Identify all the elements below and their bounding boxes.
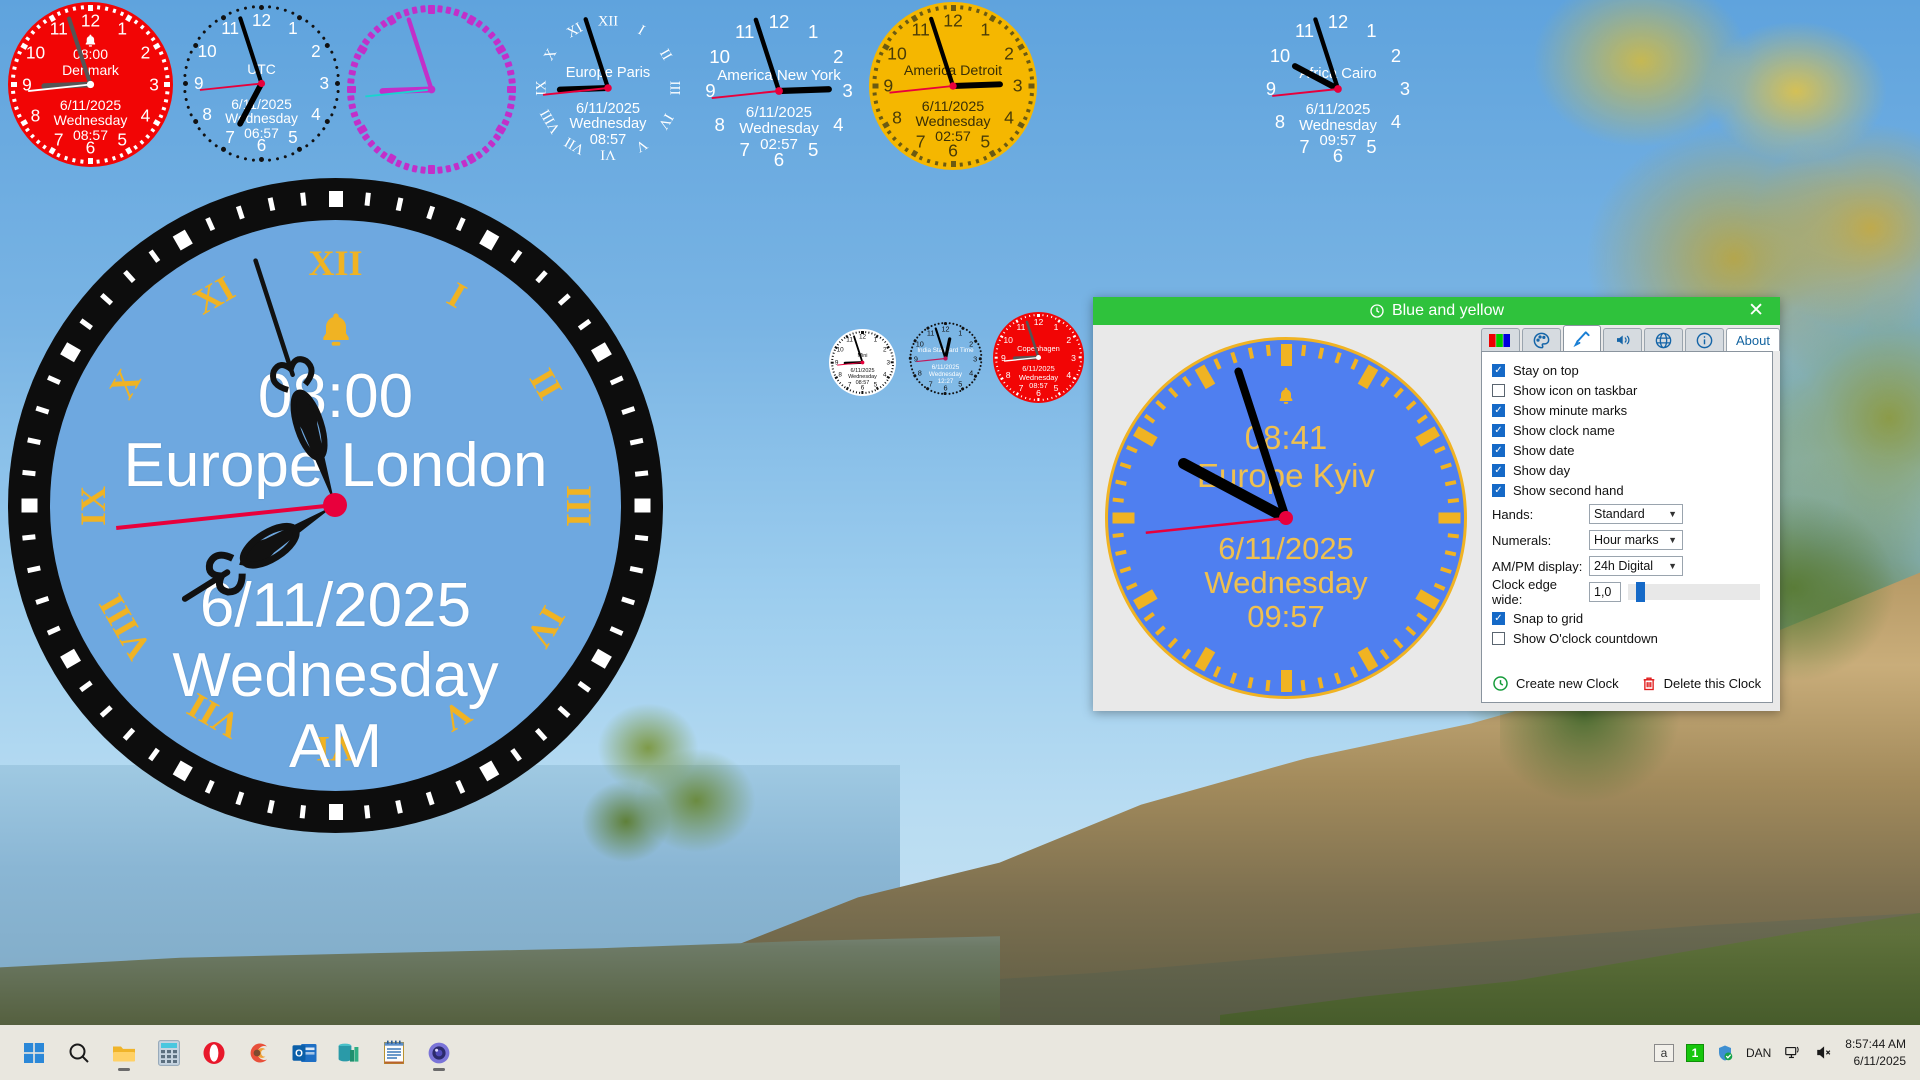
- clock-numeral: 5: [980, 132, 990, 153]
- camera-app-button[interactable]: [419, 1033, 459, 1073]
- clock-tick: [12, 67, 16, 70]
- show-clock-name-label: Show clock name: [1513, 423, 1615, 438]
- clock-tick: [927, 9, 931, 14]
- clock-tick: [335, 81, 340, 86]
- delete-this-clock-label: Delete this Clock: [1664, 676, 1762, 691]
- stay-on-top-row[interactable]: Stay on top: [1492, 362, 1772, 379]
- ampm-select-value: 24h Digital: [1594, 559, 1653, 573]
- show-date-label: Show date: [1513, 443, 1574, 458]
- clock-tick: [943, 162, 946, 166]
- mini-clock-tick: [978, 368, 980, 370]
- clock-tick: [347, 78, 354, 84]
- file-explorer-button[interactable]: [104, 1033, 144, 1073]
- snap-to-grid-row[interactable]: Snap to grid: [1492, 610, 1772, 627]
- mini-clock-tick: [997, 343, 999, 345]
- clock-numeral: 10: [1270, 45, 1290, 67]
- mini-clock-tick: [909, 361, 911, 363]
- windows-icon: [22, 1041, 46, 1065]
- clock-numeral: 7: [1299, 136, 1309, 158]
- clock-numeral: 3: [1400, 78, 1410, 100]
- tools-tab-pane: Stay on topShow icon on taskbarShow minu…: [1481, 351, 1773, 703]
- mini-clock-numeral: 1: [1054, 322, 1059, 332]
- clock-tick: [872, 93, 876, 96]
- clock-numeral: 3: [149, 74, 159, 95]
- ime-indicator[interactable]: a: [1654, 1044, 1674, 1062]
- chevron-down-icon: ▼: [1668, 561, 1677, 571]
- mini-clock-tick: [1037, 398, 1039, 401]
- mini-clock-tick: [980, 361, 982, 363]
- clock-tick: [164, 82, 170, 87]
- main-clock-europe-london[interactable]: XIIIIIIIIIVVVIVIIVIIIIXXXI 08:00 Europe …: [8, 178, 663, 833]
- create-new-clock-button[interactable]: Create new Clock: [1492, 675, 1619, 692]
- notepad-icon: [383, 1040, 405, 1065]
- clock-numeral: 6: [948, 140, 958, 161]
- mini-clock-copenhagen[interactable]: 121234567891011Copenhagen6/11/2025Wednes…: [993, 312, 1084, 403]
- mini-clock-tick: [849, 333, 851, 336]
- clock-numeral: 2: [833, 46, 843, 68]
- kyiv-clock-tick: [1438, 513, 1460, 524]
- clock-tick: [437, 5, 443, 12]
- mini-clock-tick: [937, 323, 939, 325]
- mini-clock-tick: [1042, 399, 1044, 401]
- mini-clock-numeral: 8: [1006, 370, 1011, 380]
- clock-numeral: 1: [1366, 20, 1376, 42]
- clock-numeral: 6: [257, 136, 267, 156]
- kyiv-clock-face: [1105, 337, 1467, 699]
- mini-clock-tick: [1046, 398, 1048, 400]
- main-clock-bell-icon: [50, 309, 621, 356]
- bezel-tick: [329, 804, 343, 820]
- settings-panel: About Stay on topShow icon on taskbarSho…: [1474, 325, 1780, 711]
- clock-tick: [968, 161, 971, 165]
- mini-clock-numeral: 9: [1001, 353, 1006, 363]
- clock-numeral: 4: [1004, 108, 1014, 129]
- ccleaner-button[interactable]: [239, 1033, 279, 1073]
- start-button[interactable]: [14, 1033, 54, 1073]
- clock-numeral: 7: [740, 139, 750, 161]
- mini-clock-tick: [1029, 398, 1031, 400]
- clock-edge-label: Clock edge wide:: [1492, 577, 1589, 607]
- globe-icon: [1654, 331, 1673, 350]
- clock-tick: [347, 95, 354, 101]
- clock-tick: [183, 81, 188, 86]
- hammer-icon: [1572, 329, 1592, 348]
- clock-numeral: 4: [1391, 111, 1401, 133]
- clock-numeral: 11: [1295, 20, 1314, 42]
- system-tray[interactable]: a 1 DAN: [1654, 1036, 1906, 1068]
- network-icon[interactable]: [1783, 1044, 1802, 1061]
- search-button[interactable]: [59, 1033, 99, 1073]
- mini-clock-tick: [1033, 399, 1035, 401]
- desktop-clock-denmark[interactable]: 12123456789101108:00Denmark6/11/2025Wedn…: [8, 2, 173, 167]
- mini-clock-numeral: 4: [1066, 370, 1071, 380]
- desktop-clock-unnamed-2[interactable]: [344, 2, 519, 177]
- clock-tick: [960, 5, 963, 9]
- tray-clock[interactable]: 8:57:44 AM 6/11/2025: [1845, 1036, 1906, 1068]
- show-second-hand-checkbox[interactable]: [1492, 484, 1505, 497]
- show-date-checkbox[interactable]: [1492, 444, 1505, 457]
- settings-titlebar[interactable]: Blue and yellow ✕: [1093, 297, 1780, 325]
- mini-clock-numeral: 10: [1003, 335, 1013, 345]
- clock-numeral: 3: [842, 80, 852, 102]
- taskbar[interactable]: O a 1 DAN: [0, 1025, 1920, 1080]
- clock-tick: [11, 91, 15, 94]
- mini-clock-tick: [892, 359, 894, 361]
- clock-tick: [259, 5, 264, 10]
- ampm-row: AM/PM display: 24h Digital ▼: [1492, 555, 1772, 577]
- mini-clock-india-standard-time[interactable]: 121234567891011India Standard Time6/11/2…: [907, 320, 984, 397]
- desktop: 12123456789101108:00Denmark6/11/2025Wedn…: [0, 0, 1920, 1080]
- tray-date: 6/11/2025: [1845, 1053, 1906, 1069]
- database-icon: [337, 1041, 361, 1065]
- volume-muted-icon[interactable]: [1814, 1044, 1833, 1061]
- clock-edge-row: Clock edge wide: 1,0: [1492, 581, 1772, 603]
- taskbar-icons[interactable]: O: [14, 1033, 459, 1073]
- clock-tick: [11, 75, 15, 78]
- clock-tick: [976, 159, 980, 164]
- kyiv-clock-preview-area: 08:41 Europe Kyiv 6/11/2025 Wednesday 09…: [1093, 325, 1473, 711]
- stay-on-top-checkbox[interactable]: [1492, 364, 1505, 377]
- mini-clock-numeral: 3: [973, 354, 977, 363]
- mini-clock-mini[interactable]: 121234567891011Mini6/11/2025Wednesday08:…: [829, 329, 896, 396]
- clock-numeral: 3: [1013, 76, 1023, 97]
- clock-tick: [165, 91, 169, 94]
- main-clock-day: Wednesday: [50, 640, 621, 711]
- notification-badge[interactable]: 1: [1686, 1044, 1704, 1062]
- hands-row: Hands: Standard ▼: [1492, 503, 1772, 525]
- show-day-label: Show day: [1513, 463, 1570, 478]
- clock-tick: [960, 162, 963, 166]
- delete-this-clock-button[interactable]: Delete this Clock: [1641, 675, 1762, 692]
- mini-clock-tick: [911, 346, 913, 348]
- show-minute-marks-checkbox[interactable]: [1492, 404, 1505, 417]
- clock-tick: [935, 7, 938, 11]
- mini-clock-tick: [1020, 317, 1022, 320]
- mini-clock-tick: [909, 357, 912, 360]
- mini-clock-numeral: 11: [846, 337, 853, 344]
- show-clock-name-checkbox[interactable]: [1492, 424, 1505, 437]
- clock-tick: [259, 157, 264, 162]
- mini-clock-numeral: 12: [1034, 317, 1044, 327]
- clock-numeral: 12: [1328, 11, 1348, 33]
- clock-numeral: 7: [916, 132, 926, 153]
- rgb-colors-icon: [1489, 334, 1511, 347]
- mini-clock-tick: [955, 391, 957, 393]
- clock-numeral: 3: [319, 74, 329, 94]
- mini-clock-tick: [930, 390, 932, 392]
- clock-numeral: III: [666, 81, 683, 96]
- clock-numeral: 5: [117, 129, 127, 150]
- main-clock-name: Europe London: [50, 430, 621, 501]
- mini-clock-tick: [955, 324, 957, 326]
- clock-numeral: 6: [1333, 145, 1343, 167]
- oclock-countdown-row[interactable]: Show O'clock countdown: [1492, 630, 1772, 647]
- clock-face: [344, 2, 519, 177]
- settings-tabstrip[interactable]: About: [1474, 325, 1780, 351]
- clock-numeral: 11: [912, 19, 930, 40]
- clock-tick: [507, 86, 516, 93]
- clock-tick: [88, 158, 93, 164]
- mini-clock-tick: [832, 352, 834, 354]
- clock-numeral: 9: [883, 76, 893, 97]
- slider-knob[interactable]: [1636, 582, 1645, 602]
- mini-clock-numeral: 5: [874, 381, 878, 388]
- oclock-countdown-checkbox[interactable]: [1492, 632, 1505, 645]
- clock-tick: [951, 161, 956, 167]
- clock-tick: [428, 5, 435, 14]
- shield-icon[interactable]: [1716, 1044, 1734, 1062]
- mini-clock-tick: [977, 372, 979, 374]
- tray-time: 8:57:44 AM: [1845, 1036, 1906, 1052]
- mini-clock-numeral: 6: [1036, 388, 1041, 398]
- clock-numeral: XII: [598, 13, 618, 30]
- mini-clock-tick: [995, 361, 997, 363]
- show-icon-on-taskbar-checkbox[interactable]: [1492, 384, 1505, 397]
- mini-clock-tick: [948, 393, 950, 395]
- mini-clock-tick: [868, 391, 870, 393]
- show-day-row[interactable]: Show day: [1492, 462, 1772, 479]
- clock-numeral: 9: [705, 80, 715, 102]
- mini-clock-numeral: 5: [958, 380, 962, 389]
- clock-edge-input[interactable]: 1,0: [1589, 582, 1621, 602]
- numerals-select[interactable]: Hour marks ▼: [1589, 530, 1683, 550]
- clock-numeral: 7: [225, 128, 235, 148]
- preview-clock-europe-kyiv[interactable]: 08:41 Europe Kyiv 6/11/2025 Wednesday 09…: [1105, 337, 1467, 699]
- mini-clock-tick: [891, 361, 894, 363]
- desktop-clock-utc[interactable]: 121234567891011UTC6/11/2025Wednesday06:5…: [180, 2, 343, 165]
- clock-numeral: 2: [311, 42, 321, 62]
- snap-to-grid-label: Snap to grid: [1513, 611, 1583, 626]
- mini-clock-tick: [865, 392, 867, 394]
- info-tab[interactable]: [1685, 328, 1724, 351]
- clock-tick: [437, 166, 443, 173]
- mini-clock-numeral: 3: [1071, 353, 1076, 363]
- mini-clock-tick: [979, 350, 981, 352]
- show-minute-marks-label: Show minute marks: [1513, 403, 1627, 418]
- mini-clock-tick: [909, 354, 911, 356]
- clock-numeral: VI: [600, 146, 615, 163]
- camera-lens-icon: [427, 1041, 451, 1065]
- speaker-icon: [1613, 331, 1633, 349]
- clock-numeral: 2: [141, 42, 151, 63]
- outlook-button[interactable]: O: [284, 1033, 324, 1073]
- checkbox-list: Stay on topShow icon on taskbarShow minu…: [1482, 362, 1772, 499]
- mini-clock-tick: [871, 390, 873, 392]
- desktop-clock-africa-cairo[interactable]: 121234567891011Africa Cairo6/11/2025Wedn…: [1251, 2, 1425, 176]
- mini-clock-tick: [1046, 315, 1048, 317]
- bezel-tick: [634, 499, 650, 513]
- clock-tick: [1029, 76, 1033, 79]
- clock-numeral: 11: [221, 19, 239, 39]
- info-circle-icon: [1695, 331, 1714, 350]
- snap-to-grid-checkbox[interactable]: [1492, 612, 1505, 625]
- mini-clock-numeral: 7: [929, 380, 933, 389]
- mini-clock-numeral: 4: [969, 369, 973, 378]
- clock-numeral: 8: [714, 114, 724, 136]
- clock-numeral: 9: [194, 74, 204, 94]
- main-clock-alarm-time: 08:00: [50, 361, 621, 432]
- mini-clock-numeral: 5: [1054, 383, 1059, 393]
- opera-button[interactable]: [194, 1033, 234, 1073]
- mini-clock-numeral: 2: [1066, 335, 1071, 345]
- clock-numeral: 8: [202, 105, 212, 125]
- web-tab[interactable]: [1644, 328, 1683, 351]
- kyiv-clock-tick: [1281, 670, 1292, 692]
- chevron-down-icon: ▼: [1668, 535, 1677, 545]
- desktop-clock-europe-paris[interactable]: XIIIIIIIIIVVVIVIIVIIIIXXXIEurope Paris6/…: [522, 2, 694, 174]
- clock-tick: [428, 165, 435, 174]
- chevron-down-icon: ▼: [1668, 509, 1677, 519]
- mini-clock-tick: [859, 392, 861, 394]
- clock-numeral: 9: [1266, 78, 1276, 100]
- mini-clock-tick: [979, 357, 982, 360]
- mini-clock-tick: [952, 392, 954, 394]
- mini-clock-tick: [1080, 352, 1082, 354]
- clock-tick: [935, 161, 938, 165]
- about-tab[interactable]: About: [1726, 328, 1780, 351]
- mini-clock-tick: [978, 346, 980, 348]
- clock-numeral: 2: [1004, 43, 1014, 64]
- mini-clock-tick: [1078, 370, 1080, 372]
- notepad-button[interactable]: [374, 1033, 414, 1073]
- clock-numeral: 11: [735, 21, 754, 43]
- clock-numeral: 4: [141, 106, 151, 127]
- clock-numeral: 10: [709, 46, 730, 68]
- clock-numeral: 5: [288, 128, 298, 148]
- desktop-clock-america-new-york[interactable]: 121234567891011America New York6/11/2025…: [690, 2, 868, 180]
- keyboard-language[interactable]: DAN: [1746, 1046, 1771, 1060]
- mini-clock-tick: [831, 365, 833, 367]
- mini-clock-tick: [891, 368, 893, 370]
- ampm-label: AM/PM display:: [1492, 559, 1589, 574]
- mini-clock-tick: [1024, 316, 1026, 318]
- clock-numeral: 8: [1275, 111, 1285, 133]
- clock-tick: [165, 75, 169, 78]
- clock-numeral: 4: [833, 114, 843, 136]
- clock-tick: [508, 78, 515, 84]
- close-icon[interactable]: ✕: [1742, 297, 1770, 325]
- mini-clock-numeral: 2: [883, 346, 887, 353]
- show-clock-name-row[interactable]: Show clock name: [1492, 422, 1772, 439]
- main-clock-numeral: XII: [308, 242, 362, 284]
- clock-numeral: 6: [86, 138, 96, 159]
- clock-tick: [420, 166, 426, 173]
- show-date-row[interactable]: Show date: [1492, 442, 1772, 459]
- mini-clock-tick: [831, 359, 833, 361]
- desktop-clock-america-detroit[interactable]: 121234567891011America Detroit6/11/2025W…: [869, 2, 1037, 170]
- mini-clock-tick: [1055, 395, 1057, 398]
- clock-tick: [943, 5, 946, 9]
- calculator-icon: [158, 1040, 180, 1066]
- mini-clock-numeral: 6: [861, 385, 865, 392]
- numerals-label: Numerals:: [1492, 533, 1589, 548]
- clock-edge-slider[interactable]: [1628, 584, 1760, 600]
- mini-clock-tick: [979, 365, 981, 367]
- mini-clock-tick: [1079, 356, 1082, 358]
- mini-clock-tick: [980, 354, 982, 356]
- clock-tick: [968, 7, 971, 11]
- clock-tick: [1029, 93, 1033, 96]
- mini-clock-tick: [832, 355, 834, 357]
- mini-clock-tick: [868, 332, 870, 334]
- database-app-button[interactable]: [329, 1033, 369, 1073]
- mini-clock-tick: [831, 361, 834, 363]
- mini-clock-numeral: 10: [916, 339, 924, 348]
- calculator-button[interactable]: [149, 1033, 189, 1073]
- clock-numeral: 6: [774, 149, 784, 171]
- mini-clock-tick: [1051, 397, 1053, 399]
- kyiv-clock-tick: [1112, 513, 1134, 524]
- palette-icon: [1532, 331, 1551, 350]
- oclock-countdown-label: Show O'clock countdown: [1513, 631, 1658, 646]
- clock-numeral: 7: [54, 129, 64, 150]
- mini-clock-tick: [912, 343, 914, 345]
- sound-tab[interactable]: [1603, 328, 1642, 351]
- create-new-clock-label: Create new Clock: [1516, 676, 1619, 691]
- hands-select[interactable]: Standard ▼: [1589, 504, 1683, 524]
- mini-clock-numeral: 8: [838, 372, 842, 379]
- tools-tab[interactable]: [1563, 325, 1602, 351]
- clock-numeral: 10: [26, 42, 45, 63]
- colors-tab[interactable]: [1481, 328, 1520, 351]
- show-second-hand-row[interactable]: Show second hand: [1492, 482, 1772, 499]
- mini-clock-numeral: 8: [918, 369, 922, 378]
- mini-clock-numeral: 6: [943, 384, 947, 393]
- theme-tab[interactable]: [1522, 328, 1561, 351]
- mini-clock-tick: [855, 332, 857, 334]
- clock-numeral: 10: [887, 43, 907, 64]
- mini-clock-tick: [1033, 314, 1035, 316]
- main-clock-ampm: AM: [50, 711, 621, 782]
- mini-clock-tick: [952, 323, 954, 325]
- clock-numeral: 5: [1366, 136, 1376, 158]
- kyiv-clock-tick: [1281, 344, 1292, 366]
- mini-clock-numeral: 1: [958, 328, 962, 337]
- clock-tick: [1028, 84, 1034, 89]
- mini-clock-tick: [892, 365, 894, 367]
- clock-tick: [11, 82, 17, 87]
- about-tab-label: About: [1736, 333, 1770, 348]
- mini-clock-tick: [1080, 361, 1082, 363]
- mini-clock-numeral: 4: [883, 372, 887, 379]
- ime-label: a: [1661, 1046, 1668, 1060]
- mini-clock-tick: [995, 356, 998, 358]
- clock-numeral: 4: [311, 105, 321, 125]
- show-minute-marks-row[interactable]: Show minute marks: [1492, 402, 1772, 419]
- clock-numeral: 12: [769, 11, 790, 33]
- clock-numeral: 5: [808, 139, 818, 161]
- ampm-select[interactable]: 24h Digital ▼: [1589, 556, 1683, 576]
- mini-clock-tick: [910, 350, 912, 352]
- clock-settings-window[interactable]: Blue and yellow ✕ 08:41 Europe Kyiv: [1093, 297, 1780, 711]
- hands-label: Hands:: [1492, 507, 1589, 522]
- mini-clock-numeral: 3: [887, 359, 891, 366]
- bezel-tick: [329, 191, 343, 207]
- clock-numeral: 8: [31, 106, 41, 127]
- show-icon-on-taskbar-row[interactable]: Show icon on taskbar: [1492, 382, 1772, 399]
- mini-clock-numeral: 12: [941, 324, 949, 333]
- show-icon-on-taskbar-label: Show icon on taskbar: [1513, 383, 1637, 398]
- mini-clock-numeral: 7: [848, 381, 852, 388]
- mini-clock-tick: [890, 371, 892, 373]
- mini-clock-tick: [1079, 365, 1081, 367]
- clock-icon: [1369, 303, 1385, 319]
- clock-numeral: 12: [81, 10, 100, 31]
- mini-clock-tick: [941, 393, 943, 395]
- settings-body: 08:41 Europe Kyiv 6/11/2025 Wednesday 09…: [1093, 325, 1780, 711]
- clock-numeral: 10: [198, 42, 217, 62]
- show-day-checkbox[interactable]: [1492, 464, 1505, 477]
